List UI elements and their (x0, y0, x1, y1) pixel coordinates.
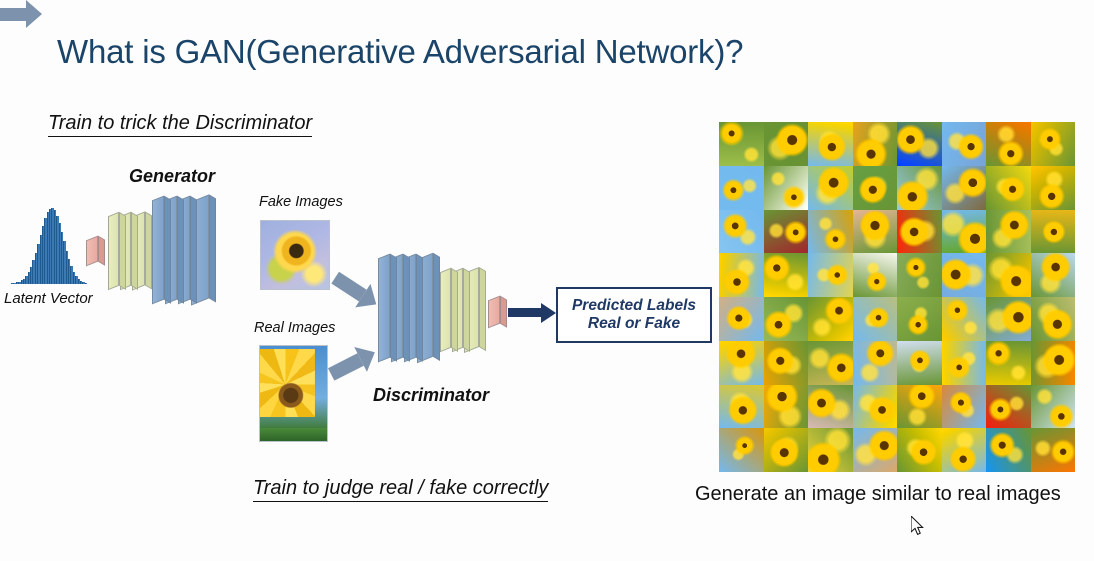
predicted-labels-box: Predicted Labels Real or Fake (556, 287, 712, 343)
generated-image-tile (853, 341, 898, 385)
generated-image-tile (897, 210, 942, 254)
generated-image-tile (764, 166, 809, 210)
generated-image-tile (719, 166, 764, 210)
network-layer-slab (440, 268, 451, 352)
generated-image-tile (853, 297, 898, 341)
result-caption: Generate an image similar to real images (695, 483, 1061, 506)
network-layer-slab (488, 296, 500, 329)
network-layer-slab (152, 196, 164, 305)
generated-image-tile (853, 210, 898, 254)
generated-image-tile (764, 297, 809, 341)
generated-image-tile (1031, 253, 1076, 297)
generated-image-tile (897, 341, 942, 385)
generated-image-tile (764, 428, 809, 472)
generated-image-tile (808, 297, 853, 341)
discriminator-network-layers (378, 248, 528, 388)
generated-image-tile (897, 253, 942, 297)
generated-image-tile (808, 122, 853, 166)
generated-image-tile (986, 166, 1031, 210)
generated-image-tile (986, 297, 1031, 341)
network-layer-slab (108, 212, 119, 290)
generated-image-tile (942, 385, 987, 429)
generated-image-tile (719, 341, 764, 385)
mouse-cursor (911, 516, 925, 536)
generated-image-tile (808, 385, 853, 429)
generated-image-tile (853, 166, 898, 210)
generated-image-tile (986, 428, 1031, 472)
generated-image-tile (942, 210, 987, 254)
generated-image-tile (1031, 385, 1076, 429)
real-image-thumbnail (259, 345, 328, 442)
generated-image-tile (1031, 210, 1076, 254)
generated-image-tile (808, 166, 853, 210)
generated-image-tile (1031, 428, 1076, 472)
generated-image-tile (942, 122, 987, 166)
generated-image-tile (853, 122, 898, 166)
generated-image-tile (942, 253, 987, 297)
generated-image-tile (1031, 297, 1076, 341)
generator-label: Generator (129, 166, 215, 187)
generated-image-tile (942, 297, 987, 341)
generated-image-tile (719, 428, 764, 472)
slide-canvas: What is GAN(Generative Adversarial Netwo… (0, 0, 1094, 561)
generated-image-tile (764, 253, 809, 297)
generated-image-tile (986, 122, 1031, 166)
generated-image-tile (808, 210, 853, 254)
generated-image-tile (986, 341, 1031, 385)
generated-image-tile (942, 428, 987, 472)
generated-image-tile (897, 297, 942, 341)
predicted-labels-line1: Predicted Labels (572, 297, 696, 315)
generated-image-tile (897, 122, 942, 166)
generated-image-tile (986, 210, 1031, 254)
generated-image-tile (1031, 122, 1076, 166)
fake-images-label: Fake Images (259, 194, 343, 210)
real-images-label: Real Images (254, 320, 335, 336)
network-layer-slab (378, 254, 390, 363)
generated-image-tile (942, 341, 987, 385)
caption-train-to-trick: Train to trick the Discriminator (48, 112, 312, 137)
generated-image-tile (808, 428, 853, 472)
generated-image-tile (853, 253, 898, 297)
generated-image-tile (897, 385, 942, 429)
arrow-discriminator-to-prediction (508, 303, 556, 323)
generated-image-tile (853, 385, 898, 429)
generator-network-layers (86, 190, 246, 330)
generated-image-tile (764, 341, 809, 385)
generated-image-tile (1031, 166, 1076, 210)
caption-train-to-judge: Train to judge real / fake correctly (253, 477, 548, 502)
fake-image-thumbnail (260, 220, 330, 290)
generated-image-tile (808, 341, 853, 385)
generated-image-tile (1031, 341, 1076, 385)
network-layer-slab (86, 236, 98, 267)
generated-image-tile (764, 385, 809, 429)
predicted-labels-line2: Real or Fake (588, 315, 680, 333)
latent-vector-histogram (11, 208, 87, 284)
generated-image-tile (719, 253, 764, 297)
generated-image-tile (719, 210, 764, 254)
latent-vector-label: Latent Vector (4, 290, 93, 307)
generated-image-tile (986, 385, 1031, 429)
generated-image-tile (853, 428, 898, 472)
page-title: What is GAN(Generative Adversarial Netwo… (57, 33, 743, 71)
generated-image-tile (764, 210, 809, 254)
generated-image-tile (897, 428, 942, 472)
generated-image-tile (719, 122, 764, 166)
generated-image-tile (897, 166, 942, 210)
generated-image-grid (719, 122, 1075, 472)
generated-image-tile (808, 253, 853, 297)
discriminator-label: Discriminator (373, 385, 489, 406)
generated-image-tile (719, 297, 764, 341)
generated-image-tile (942, 166, 987, 210)
generated-image-tile (719, 385, 764, 429)
generated-image-tile (764, 122, 809, 166)
generated-image-tile (986, 253, 1031, 297)
